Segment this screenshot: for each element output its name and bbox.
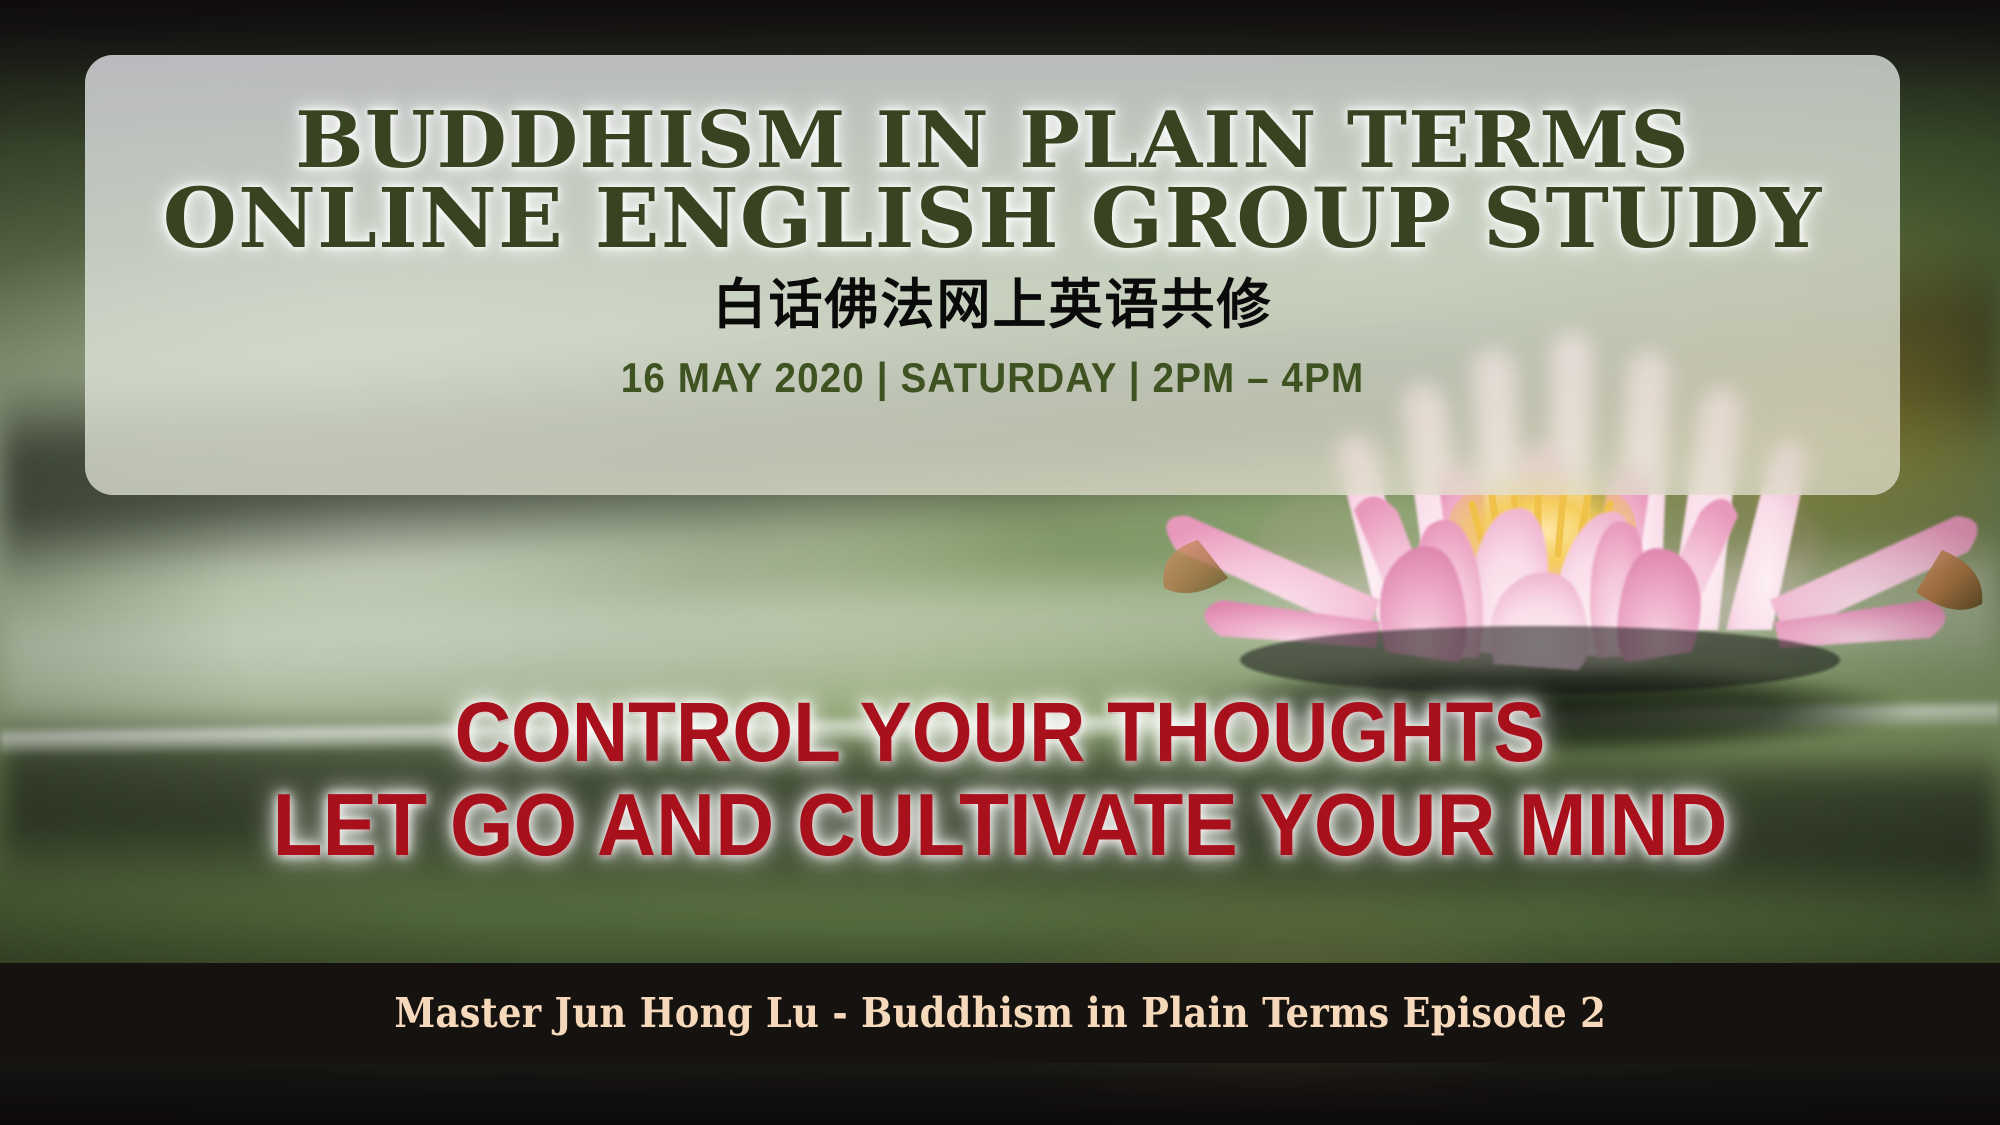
poster-title-line-1: BUDDHISM IN PLAIN TERMS (49, 103, 1937, 179)
lily-pad (1100, 650, 1980, 770)
poster-canvas: BUDDHISM IN PLAIN TERMS ONLINE ENGLISH G… (0, 0, 2000, 1125)
footer-credit-text: Master Jun Hong Lu - Buddhism in Plain T… (394, 989, 1606, 1037)
headline-line-2: LET GO AND CULTIVATE YOUR MIND (70, 780, 1930, 870)
poster-title-line-2: ONLINE ENGLISH GROUP STUDY (49, 179, 1937, 259)
headline-line-1: CONTROL YOUR THOUGHTS (70, 690, 1930, 776)
title-panel: BUDDHISM IN PLAIN TERMS ONLINE ENGLISH G… (85, 55, 1900, 495)
event-datetime: 16 MAY 2020 | SATURDAY | 2PM – 4PM (158, 354, 1828, 402)
headline-block: CONTROL YOUR THOUGHTS LET GO AND CULTIVA… (0, 690, 2000, 869)
poster-title-chinese: 白话佛法网上英语共修 (85, 274, 1900, 336)
title-block: BUDDHISM IN PLAIN TERMS ONLINE ENGLISH G… (85, 103, 1900, 402)
footer-bar: Master Jun Hong Lu - Buddhism in Plain T… (0, 963, 2000, 1063)
